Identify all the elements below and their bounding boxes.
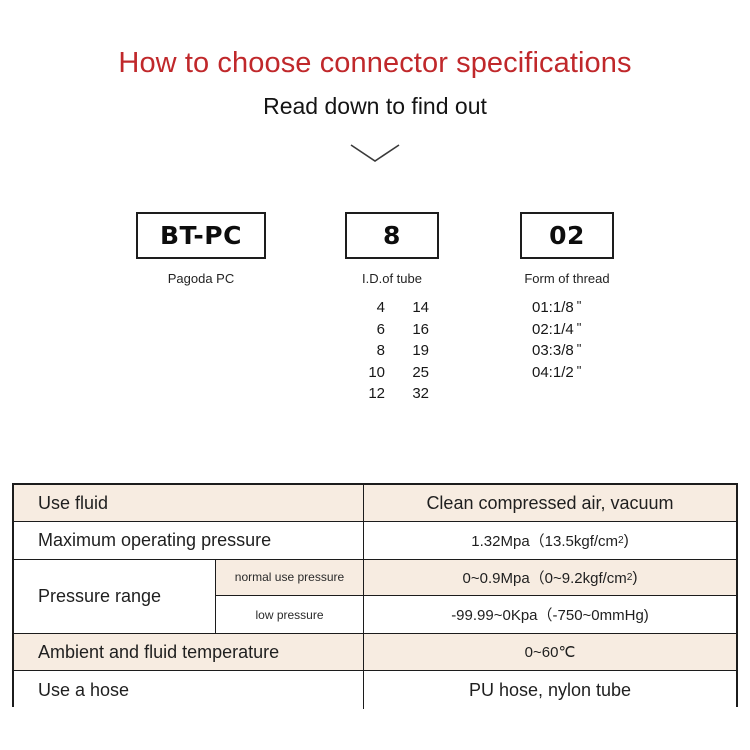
list-item: 03:3/8" [532,340,672,362]
tube-size-large: 32 [385,383,429,405]
list-item: 6 16 [345,319,475,341]
table-row: low pressure -99.99~0Kpa（-750~0mmHg) [215,596,736,633]
row-value-temperature: 0~60℃ [364,634,736,670]
tube-size-large: 14 [385,297,429,319]
row-value-max-pressure: 1.32Mpa（13.5kgf/cm2) [364,522,736,558]
caption-tube-id: I.D.of tube [345,271,439,286]
row-label-temperature: Ambient and fluid temperature [14,634,364,670]
normal-pressure-tail: ) [632,569,637,586]
code-box-thread-form: 02 [520,212,614,259]
subrow-label-normal-pressure: normal use pressure [215,560,364,596]
row-label-hose: Use a hose [14,671,364,708]
row-value-use-fluid: Clean compressed air, vacuum [364,485,736,521]
subrow-value-low-pressure: -99.99~0Kpa（-750~0mmHg) [364,596,736,633]
caption-thread-form: Form of thread [496,271,638,286]
thread-form-label: 01:1/8 [532,299,574,316]
inch-mark: " [574,320,582,335]
list-item: 02:1/4" [532,319,672,341]
tube-size-large: 16 [385,319,429,341]
tube-size-small: 6 [345,319,385,341]
max-pressure-tail: ) [624,532,629,549]
table-row: normal use pressure 0~0.9Mpa（0~9.2kgf/cm… [215,560,736,597]
thread-form-label: 03:3/8 [532,342,574,359]
table-row: Maximum operating pressure 1.32Mpa（13.5k… [14,522,736,559]
tube-size-small: 12 [345,383,385,405]
row-label-max-pressure: Maximum operating pressure [14,522,364,558]
list-item: 10 25 [345,362,475,384]
table-row: Use fluid Clean compressed air, vacuum [14,485,736,522]
inch-mark: " [574,363,582,378]
inch-mark: " [574,341,582,356]
page-subtitle: Read down to find out [0,93,750,120]
tube-size-small: 4 [345,297,385,319]
subrow-label-low-pressure: low pressure [215,596,364,633]
tube-size-list: 4 14 6 16 8 19 10 25 12 32 [345,297,475,405]
thread-form-label: 02:1/4 [532,321,574,338]
specification-table: Use fluid Clean compressed air, vacuum M… [12,483,738,707]
table-row: Pressure range normal use pressure 0~0.9… [14,560,736,635]
list-item: 4 14 [345,297,475,319]
row-label-pressure-range: Pressure range [14,560,215,634]
page-title: How to choose connector specifications [0,47,750,80]
tube-size-large: 19 [385,340,429,362]
list-item: 01:1/8" [532,297,672,319]
list-item: 04:1/2" [532,362,672,384]
tube-size-small: 8 [345,340,385,362]
thread-form-label: 04:1/2 [532,364,574,381]
chevron-down-icon [349,142,401,164]
table-row: Use a hose PU hose, nylon tube [14,671,736,708]
max-pressure-main: 1.32Mpa（13.5kgf/cm [471,530,618,551]
table-row: Ambient and fluid temperature 0~60℃ [14,634,736,671]
pressure-range-subrows: normal use pressure 0~0.9Mpa（0~9.2kgf/cm… [215,560,736,634]
list-item: 8 19 [345,340,475,362]
code-box-series: BT-PC [136,212,266,259]
tube-size-large: 25 [385,362,429,384]
caption-series: Pagoda PC [136,271,266,286]
row-value-hose: PU hose, nylon tube [364,671,736,708]
code-box-tube-id: 8 [345,212,439,259]
tube-size-small: 10 [345,362,385,384]
row-label-use-fluid: Use fluid [14,485,364,521]
inch-mark: " [574,298,582,313]
thread-form-list: 01:1/8" 02:1/4" 03:3/8" 04:1/2" [532,297,672,383]
normal-pressure-main: 0~0.9Mpa（0~9.2kgf/cm [463,567,627,588]
list-item: 12 32 [345,383,475,405]
subrow-value-normal-pressure: 0~0.9Mpa（0~9.2kgf/cm2) [364,560,736,596]
